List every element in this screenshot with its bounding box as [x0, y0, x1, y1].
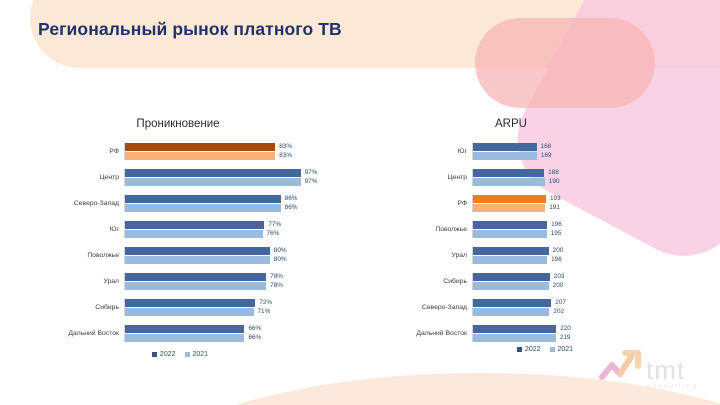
bar-value-label: 195	[547, 231, 562, 237]
bar-line: 200	[473, 282, 700, 290]
bar-value-label: 188	[544, 170, 559, 176]
row-spacer	[400, 188, 700, 195]
chart-category-row: РФ83%83%	[60, 143, 380, 160]
category-label: Сибирь	[400, 278, 472, 285]
chart-category-row: Дальний Восток66%66%	[60, 325, 380, 342]
legend-item-2022[interactable]: 2022	[152, 351, 176, 358]
category-label: Дальний Восток	[60, 330, 124, 337]
bar-value-label: 72%	[255, 300, 272, 306]
category-bars: 168169	[472, 143, 700, 160]
bar-value-label: 80%	[270, 257, 287, 263]
bar-line: 188	[473, 169, 700, 177]
category-label: Сибирь	[60, 304, 124, 311]
bar-value-label: 80%	[270, 248, 287, 254]
bar-line: 66%	[125, 334, 380, 342]
bar-2021[interactable]	[473, 334, 556, 342]
category-label: РФ	[60, 148, 124, 155]
row-spacer	[60, 240, 380, 247]
bar-2021[interactable]	[473, 178, 545, 186]
bar-2022[interactable]	[125, 247, 270, 255]
bar-line: 97%	[125, 169, 380, 177]
chart-category-row: Урал78%78%	[60, 273, 380, 290]
bar-value-label: 77%	[264, 222, 281, 228]
bar-line: 191	[473, 204, 700, 212]
chart-penetration: Проникновение РФ83%83%Центр97%97%Северо-…	[60, 118, 380, 358]
category-label: РФ	[400, 200, 472, 207]
row-spacer	[60, 162, 380, 169]
bar-line: 195	[473, 230, 700, 238]
bar-2022[interactable]	[473, 299, 551, 307]
chart-category-row: Северо-Запад207202	[400, 299, 700, 316]
chart-category-row: Дальний Восток220219	[400, 325, 700, 342]
bar-2021[interactable]	[125, 308, 254, 316]
category-bars: 196195	[472, 221, 700, 238]
category-label: Северо-Запад	[60, 200, 124, 207]
category-label: Урал	[400, 252, 472, 259]
bar-line: 203	[473, 273, 700, 281]
row-spacer	[60, 214, 380, 221]
bar-line: 77%	[125, 221, 380, 229]
bar-line: 193	[473, 195, 700, 203]
bar-2022[interactable]	[473, 247, 549, 255]
legend-swatch-2021-icon	[550, 347, 555, 352]
category-bars: 80%80%	[124, 247, 380, 264]
bar-line: 86%	[125, 204, 380, 212]
bar-2022[interactable]	[125, 273, 266, 281]
legend-label-2021: 2021	[193, 351, 209, 358]
bar-2021[interactable]	[473, 204, 545, 212]
bar-line: 196	[473, 256, 700, 264]
category-bars: 97%97%	[124, 169, 380, 186]
bar-line: 83%	[125, 152, 380, 160]
bar-line: 200	[473, 247, 700, 255]
plot-area-arpu: Юг168169Центр188190РФ193191Поволжье19619…	[400, 143, 700, 342]
category-bars: 66%66%	[124, 325, 380, 342]
chart-category-row: Северо-Запад86%86%	[60, 195, 380, 212]
bar-value-label: 71%	[254, 309, 271, 315]
bar-value-label: 207	[551, 300, 566, 306]
category-label: Центр	[60, 174, 124, 181]
logo-mark-icon: tmt consulting	[598, 347, 710, 395]
category-bars: 77%76%	[124, 221, 380, 238]
category-bars: 72%71%	[124, 299, 380, 316]
bar-value-label: 196	[547, 257, 562, 263]
category-bars: 193191	[472, 195, 700, 212]
category-bars: 200196	[472, 247, 700, 264]
bar-value-label: 168	[537, 144, 552, 150]
bar-value-label: 76%	[263, 231, 280, 237]
category-bars: 207202	[472, 299, 700, 316]
bar-line: 86%	[125, 195, 380, 203]
bar-2022[interactable]	[125, 195, 281, 203]
bar-line: 78%	[125, 273, 380, 281]
category-label: Северо-Запад	[400, 304, 472, 311]
legend-penetration: 2022 2021	[60, 351, 380, 358]
bar-line: 80%	[125, 256, 380, 264]
category-bars: 220219	[472, 325, 700, 342]
bar-line: 66%	[125, 325, 380, 333]
legend-swatch-2022-icon	[152, 352, 157, 357]
bar-value-label: 66%	[244, 335, 261, 341]
chart-category-row: Поволжье80%80%	[60, 247, 380, 264]
category-label: Поволжье	[400, 226, 472, 233]
bar-value-label: 169	[537, 153, 552, 159]
row-spacer	[400, 214, 700, 221]
chart-title-penetration: Проникновение	[60, 118, 380, 130]
tmt-consulting-logo: tmt consulting	[598, 347, 710, 395]
bar-value-label: 83%	[275, 144, 292, 150]
row-spacer	[400, 162, 700, 169]
category-label: Поволжье	[60, 252, 124, 259]
bar-2021[interactable]	[473, 230, 547, 238]
bar-2022[interactable]	[473, 221, 547, 229]
bar-line: 202	[473, 308, 700, 316]
row-spacer	[400, 240, 700, 247]
bar-line: 220	[473, 325, 700, 333]
bar-2021[interactable]	[125, 334, 244, 342]
bar-line: 207	[473, 299, 700, 307]
bar-line: 97%	[125, 178, 380, 186]
bar-2021[interactable]	[125, 204, 281, 212]
bar-2022[interactable]	[473, 169, 544, 177]
chart-category-row: РФ193191	[400, 195, 700, 212]
category-label: Юг	[60, 226, 124, 233]
row-spacer	[60, 266, 380, 273]
plot-area-penetration: РФ83%83%Центр97%97%Северо-Запад86%86%Юг7…	[60, 143, 380, 342]
bar-value-label: 86%	[281, 196, 298, 202]
svg-text:consulting: consulting	[647, 383, 698, 390]
bar-line: 72%	[125, 299, 380, 307]
category-label: Юг	[400, 148, 472, 155]
chart-category-row: Центр97%97%	[60, 169, 380, 186]
category-bars: 83%83%	[124, 143, 380, 160]
bar-value-label: 191	[545, 205, 560, 211]
bar-value-label: 203	[550, 274, 565, 280]
bar-line: 76%	[125, 230, 380, 238]
category-label: Центр	[400, 174, 472, 181]
legend-label-2022: 2022	[160, 351, 176, 358]
bar-line: 83%	[125, 143, 380, 151]
legend-item-2021[interactable]: 2021	[550, 346, 574, 353]
bar-2022[interactable]	[125, 221, 264, 229]
bar-2022[interactable]	[473, 273, 550, 281]
bar-2021[interactable]	[125, 256, 270, 264]
bar-2021[interactable]	[125, 152, 275, 160]
bar-line: 169	[473, 152, 700, 160]
bar-line: 80%	[125, 247, 380, 255]
row-spacer	[400, 318, 700, 325]
legend-swatch-2021-icon	[185, 352, 190, 357]
legend-item-2022[interactable]: 2022	[517, 346, 541, 353]
category-label: Урал	[60, 278, 124, 285]
bar-value-label: 86%	[281, 205, 298, 211]
category-label: Дальний Восток	[400, 330, 472, 337]
category-bars: 203200	[472, 273, 700, 290]
chart-category-row: Центр188190	[400, 169, 700, 186]
category-bars: 86%86%	[124, 195, 380, 212]
bar-value-label: 78%	[266, 274, 283, 280]
row-spacer	[60, 318, 380, 325]
chart-category-row: Юг77%76%	[60, 221, 380, 238]
chart-title-arpu: ARPU	[400, 118, 700, 130]
page-title: Региональный рынок платного ТВ	[38, 19, 342, 40]
category-bars: 188190	[472, 169, 700, 186]
bar-2021[interactable]	[473, 282, 549, 290]
bar-value-label: 200	[549, 283, 564, 289]
bar-line: 219	[473, 334, 700, 342]
bar-2021[interactable]	[125, 230, 263, 238]
bar-2022[interactable]	[125, 143, 275, 151]
bar-2022[interactable]	[473, 195, 546, 203]
bar-line: 190	[473, 178, 700, 186]
bar-2021[interactable]	[473, 308, 549, 316]
bar-value-label: 220	[556, 326, 571, 332]
bar-value-label: 200	[549, 248, 564, 254]
chart-category-row: Сибирь203200	[400, 273, 700, 290]
row-spacer	[60, 188, 380, 195]
chart-category-row: Юг168169	[400, 143, 700, 160]
legend-swatch-2022-icon	[517, 347, 522, 352]
bar-value-label: 78%	[266, 283, 283, 289]
chart-category-row: Сибирь72%71%	[60, 299, 380, 316]
bar-value-label: 190	[545, 179, 560, 185]
bar-line: 71%	[125, 308, 380, 316]
bar-2022[interactable]	[125, 299, 255, 307]
bar-2021[interactable]	[473, 256, 547, 264]
bar-2022[interactable]	[125, 325, 244, 333]
legend-label-2021: 2021	[558, 346, 574, 353]
bar-value-label: 66%	[244, 326, 261, 332]
row-spacer	[60, 292, 380, 299]
bar-2022[interactable]	[473, 325, 556, 333]
bar-2022[interactable]	[125, 169, 301, 177]
bar-value-label: 193	[546, 196, 561, 202]
bar-value-label: 97%	[301, 170, 318, 176]
category-bars: 78%78%	[124, 273, 380, 290]
chart-category-row: Поволжье196195	[400, 221, 700, 238]
bar-2022[interactable]	[473, 143, 537, 151]
row-spacer	[400, 266, 700, 273]
bar-value-label: 83%	[275, 153, 292, 159]
chart-category-row: Урал200196	[400, 247, 700, 264]
bar-value-label: 202	[549, 309, 564, 315]
bar-2021[interactable]	[473, 152, 537, 160]
bar-value-label: 196	[547, 222, 562, 228]
bar-line: 196	[473, 221, 700, 229]
decorative-pink-blob	[475, 18, 655, 108]
row-spacer	[400, 292, 700, 299]
bar-2021[interactable]	[125, 282, 266, 290]
bar-value-label: 219	[556, 335, 571, 341]
bar-line: 168	[473, 143, 700, 151]
bar-2021[interactable]	[125, 178, 301, 186]
legend-label-2022: 2022	[525, 346, 541, 353]
bar-line: 78%	[125, 282, 380, 290]
bar-value-label: 97%	[301, 179, 318, 185]
legend-item-2021[interactable]: 2021	[185, 351, 209, 358]
svg-text:tmt: tmt	[646, 355, 685, 385]
chart-arpu: ARPU Юг168169Центр188190РФ193191Поволжье…	[400, 118, 700, 353]
